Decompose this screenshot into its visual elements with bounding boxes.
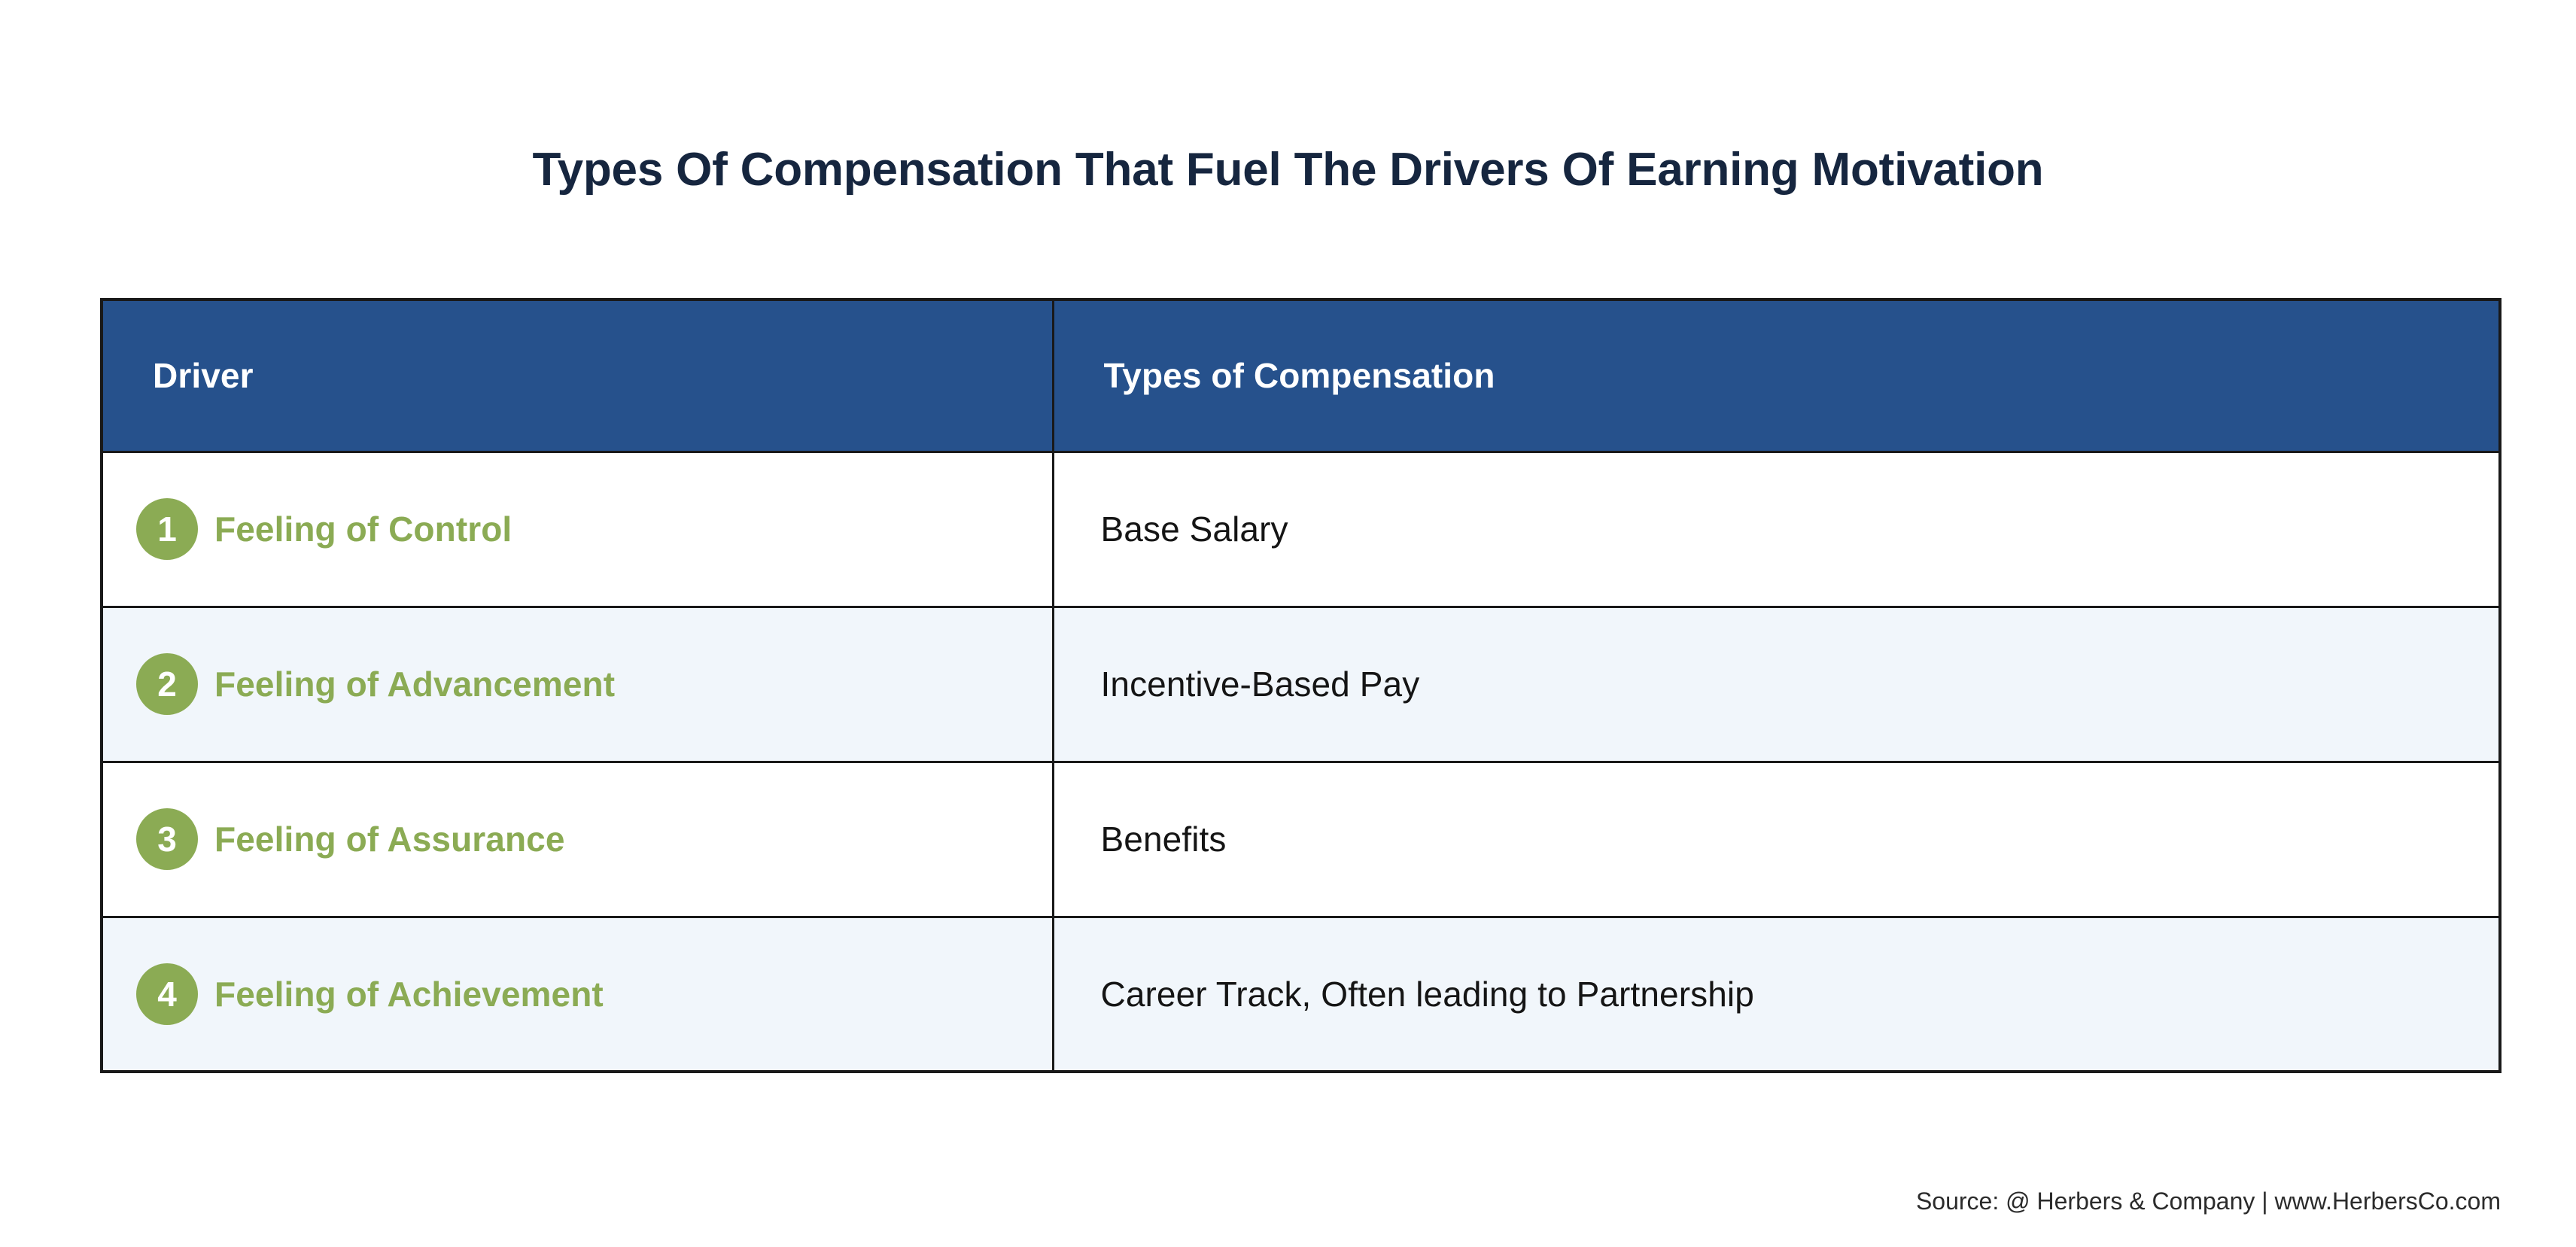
compensation-cell-content: Career Track, Often leading to Partnersh… [1054,918,2499,1071]
compensation-table: Driver Types of Compensation 1 Feeling o… [100,298,2501,1073]
infographic-page: Types Of Compensation That Fuel The Driv… [0,0,2576,1247]
table-row: 3 Feeling of Assurance Benefits [102,762,2500,917]
driver-label: Feeling of Control [214,509,512,549]
number-badge-icon: 4 [136,963,198,1025]
column-header-compensation-label: Types of Compensation [1054,301,2499,451]
table-body: 1 Feeling of Control Base Salary 2 Feeli… [102,452,2500,1072]
driver-cell: 2 Feeling of Advancement [102,607,1053,762]
column-header-driver-label: Driver [103,301,1052,451]
compensation-label: Incentive-Based Pay [1101,664,1420,704]
driver-label: Feeling of Achievement [214,974,604,1014]
driver-label: Feeling of Advancement [214,664,615,704]
compensation-cell-content: Base Salary [1054,453,2499,606]
number-badge-icon: 3 [136,808,198,870]
table-header-row: Driver Types of Compensation [102,300,2500,452]
driver-cell-content: 3 Feeling of Assurance [103,763,1052,916]
number-badge-icon: 2 [136,653,198,715]
driver-cell: 3 Feeling of Assurance [102,762,1053,917]
compensation-label: Benefits [1101,819,1227,859]
compensation-cell: Base Salary [1053,452,2500,607]
compensation-label: Base Salary [1101,509,1288,549]
table-row: 4 Feeling of Achievement Career Track, O… [102,917,2500,1072]
compensation-label: Career Track, Often leading to Partnersh… [1101,974,1754,1014]
driver-cell: 1 Feeling of Control [102,452,1053,607]
source-attribution: Source: @ Herbers & Company | www.Herber… [1916,1188,2501,1215]
compensation-cell-content: Incentive-Based Pay [1054,608,2499,761]
table-header: Driver Types of Compensation [102,300,2500,452]
table-row: 2 Feeling of Advancement Incentive-Based… [102,607,2500,762]
table-row: 1 Feeling of Control Base Salary [102,452,2500,607]
compensation-cell-content: Benefits [1054,763,2499,916]
driver-label: Feeling of Assurance [214,819,565,859]
compensation-cell: Career Track, Often leading to Partnersh… [1053,917,2500,1072]
number-badge-icon: 1 [136,498,198,560]
compensation-cell: Benefits [1053,762,2500,917]
column-header-driver: Driver [102,300,1053,452]
compensation-cell: Incentive-Based Pay [1053,607,2500,762]
driver-cell-content: 1 Feeling of Control [103,453,1052,606]
driver-cell-content: 4 Feeling of Achievement [103,918,1052,1071]
driver-cell: 4 Feeling of Achievement [102,917,1053,1072]
driver-cell-content: 2 Feeling of Advancement [103,608,1052,761]
page-title: Types Of Compensation That Fuel The Driv… [0,144,2576,196]
column-header-compensation: Types of Compensation [1053,300,2500,452]
